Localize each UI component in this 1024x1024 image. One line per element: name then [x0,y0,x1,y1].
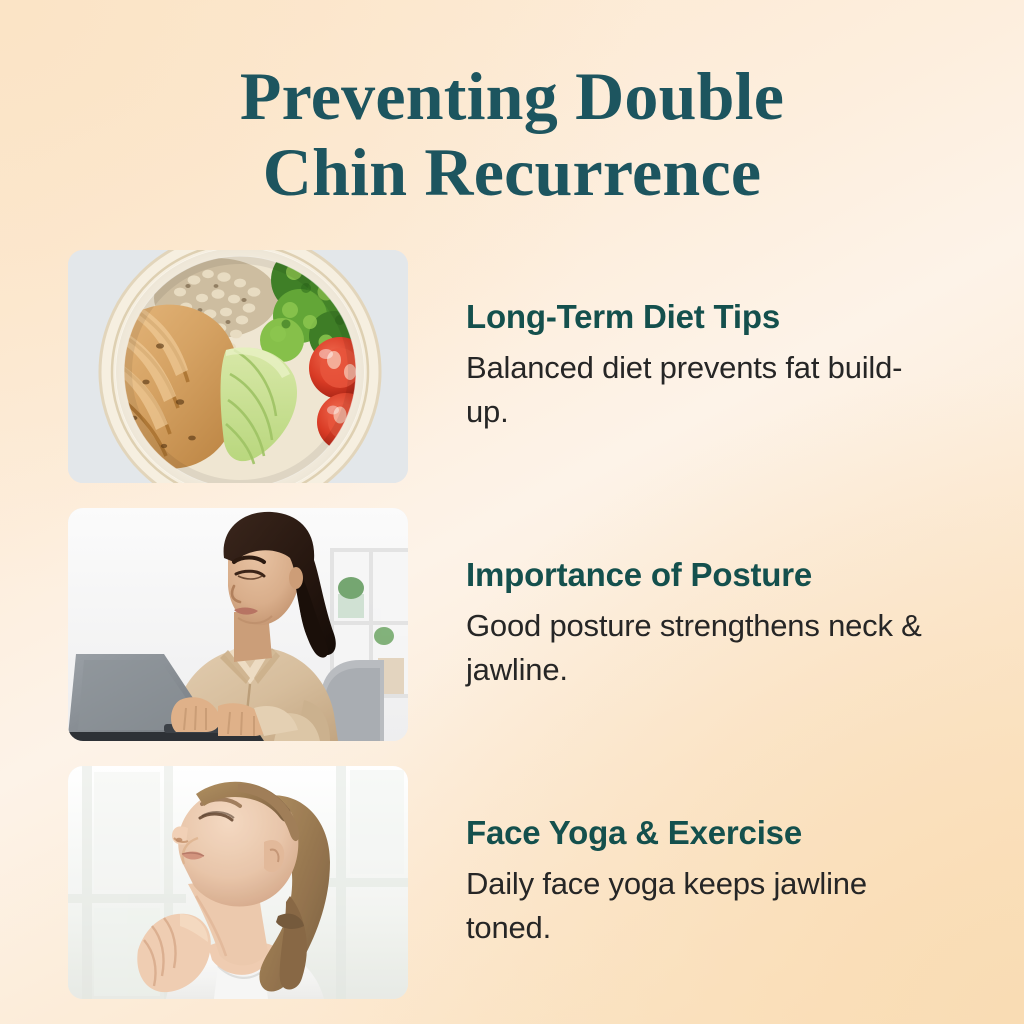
page-title: Preventing Double Chin Recurrence [0,58,1024,210]
healthy-bowl-photo [68,250,408,483]
list-item: Face Yoga & Exercise Daily face yoga kee… [0,766,1024,999]
tip-heading: Face Yoga & Exercise [466,815,982,852]
tip-copy: Face Yoga & Exercise Daily face yoga kee… [408,815,1024,950]
tip-copy: Long-Term Diet Tips Balanced diet preven… [408,299,1024,434]
page-title-text: Preventing Double Chin Recurrence [0,58,1024,210]
list-item: Long-Term Diet Tips Balanced diet preven… [0,250,1024,483]
tip-body: Balanced diet prevents fat build-up. [466,346,936,434]
neck-stretch-photo [68,766,408,999]
tip-body: Daily face yoga keeps jawline toned. [466,862,936,950]
tip-heading: Importance of Posture [466,557,982,594]
infographic-poster: Preventing Double Chin Recurrence [0,0,1024,1024]
woman-at-laptop-illustration [68,508,408,741]
neck-stretch-illustration [68,766,408,999]
tip-body: Good posture strengthens neck & jawline. [466,604,936,692]
tips-list: Long-Term Diet Tips Balanced diet preven… [0,250,1024,999]
tip-copy: Importance of Posture Good posture stren… [408,557,1024,692]
list-item: Importance of Posture Good posture stren… [0,508,1024,741]
woman-at-laptop-photo [68,508,408,741]
tip-heading: Long-Term Diet Tips [466,299,982,336]
healthy-bowl-illustration [68,250,408,483]
